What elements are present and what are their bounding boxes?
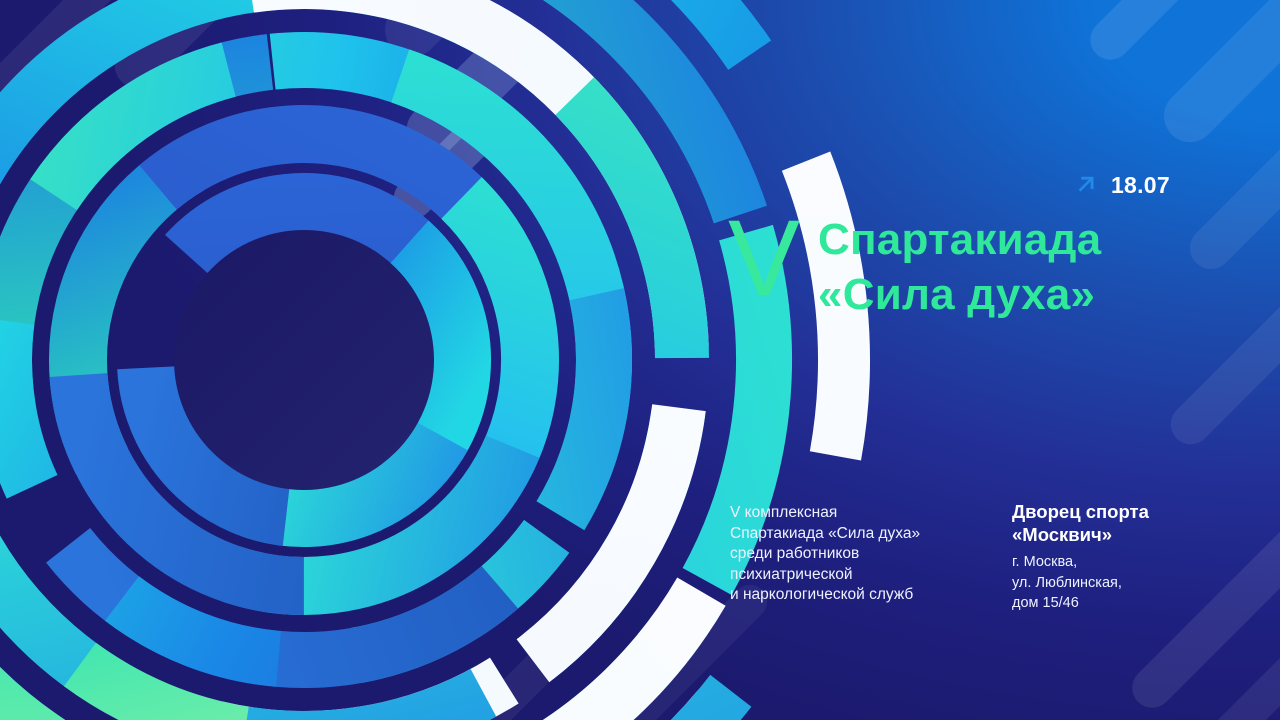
stripe-decoration bbox=[1153, 0, 1280, 153]
venue-address: г. Москва, ул. Люблинская, дом 15/46 bbox=[1012, 552, 1222, 614]
title-lines: Спартакиада «Сила духа» bbox=[818, 206, 1101, 322]
event-title: V Спартакиада «Сила духа» bbox=[728, 206, 1198, 322]
event-date: 18.07 bbox=[1075, 170, 1170, 200]
event-description: V комплексная Спартакиада «Сила духа» ср… bbox=[730, 503, 920, 606]
title-line-1: Спартакиада bbox=[818, 212, 1101, 267]
poster-canvas: 18.07 V Спартакиада «Сила духа» V компле… bbox=[0, 0, 1280, 720]
concentric-arc-rings-emblem bbox=[0, 0, 904, 720]
venue-name: Дворец спорта «Москвич» bbox=[1012, 500, 1222, 547]
event-date-text: 18.07 bbox=[1111, 174, 1170, 197]
title-line-2: «Сила духа» bbox=[818, 267, 1101, 322]
roman-numeral: V bbox=[728, 206, 800, 310]
arrow-up-right-icon bbox=[1075, 174, 1097, 196]
venue-block: Дворец спорта «Москвич» г. Москва, ул. Л… bbox=[1012, 500, 1222, 614]
